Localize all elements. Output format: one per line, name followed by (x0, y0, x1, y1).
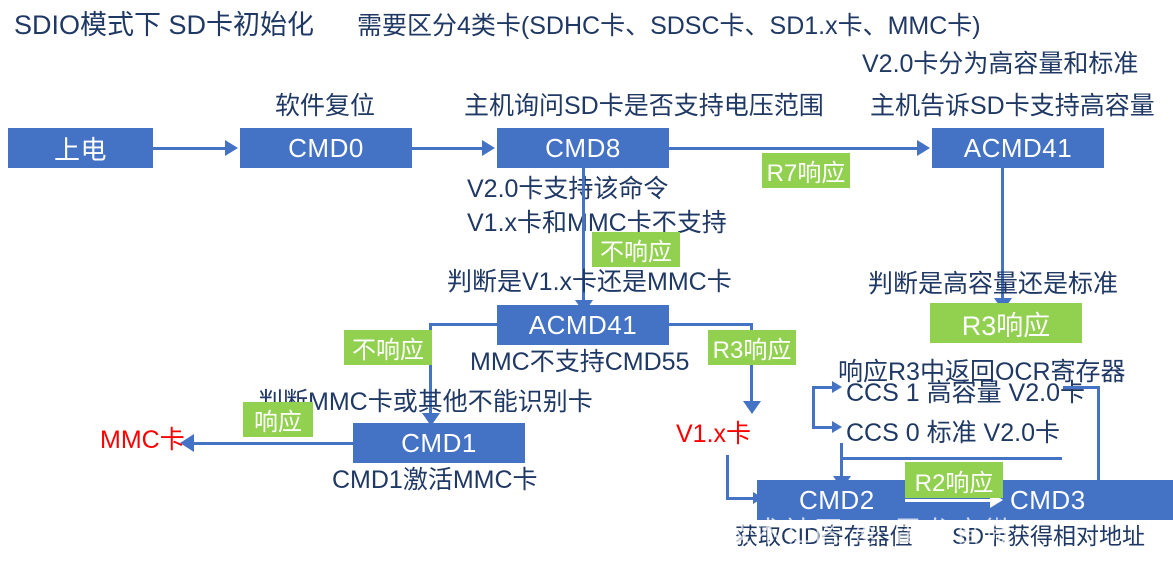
ccs1-label: CCS 1 (846, 379, 927, 407)
ccs0-value: 标准 V2.0卡 (927, 419, 1060, 447)
connector-ccs0-stub (812, 426, 834, 429)
connector-ccs0-to-cmd2-h (840, 457, 1062, 460)
header-note-v2-capacity: V2.0卡分为高容量和标准 (862, 50, 1138, 78)
ccs0-label: CCS 0 (846, 419, 927, 447)
caption-cmd1-below: CMD1激活MMC卡 (332, 466, 538, 494)
caption-branch-right-question: 判断是高容量还是标准 (868, 270, 1118, 298)
tag-response: 响应 (243, 402, 313, 437)
arrowhead-to-cmd8 (482, 140, 495, 156)
arrowhead-ccs0 (832, 421, 842, 433)
caption-cmd0-above: 软件复位 (275, 92, 375, 120)
ccs1-row: CCS 1 高容量 V2.0卡 (846, 379, 1085, 407)
ccs0-row: CCS 0 标准 V2.0卡 (846, 419, 1060, 447)
connector-ccs1-stub (812, 386, 834, 389)
flowchart-canvas: SDIO模式下 SD卡初始化 需要区分4类卡(SDHC卡、SDSC卡、SD1.x… (0, 0, 1173, 561)
connector-poweron-to-cmd0 (153, 147, 225, 150)
arrowhead-to-cmd0 (225, 140, 238, 156)
tag-no-response-acmd41: 不响应 (344, 330, 432, 365)
ccs1-value: 高容量 V2.0卡 (927, 379, 1085, 407)
connector-acmd41-mid-left (429, 323, 499, 326)
node-cmd1[interactable]: CMD1 (353, 423, 525, 463)
connector-v1x-right (726, 497, 756, 500)
arrowhead-to-acmd41-top (917, 140, 930, 156)
tag-r7-response: R7响应 (762, 153, 850, 188)
node-acmd41-top[interactable]: ACMD41 (932, 128, 1104, 168)
connector-ccs1-right (1063, 386, 1100, 389)
connector-acmd41-mid-right (669, 323, 753, 326)
page-title: SDIO模式下 SD卡初始化 (14, 10, 314, 40)
connector-cmd0-to-cmd8 (412, 147, 482, 150)
connector-cmd8-to-acmd41-top (669, 147, 917, 150)
caption-cmd8-below-1: V2.0卡支持该命令 (467, 175, 668, 203)
tag-no-response-cmd8: 不响应 (592, 232, 680, 267)
node-power-on[interactable]: 上电 (8, 128, 153, 168)
node-cmd8[interactable]: CMD8 (497, 128, 669, 168)
tag-r3-response-small: R3响应 (708, 330, 796, 365)
result-mmc-card: MMC卡 (100, 426, 185, 454)
connector-v1x-down (726, 455, 729, 500)
arrowhead-to-v1x (743, 401, 761, 414)
tag-r3-response-big: R3响应 (930, 303, 1082, 343)
tag-r2-response: R2响应 (905, 462, 1003, 498)
caption-cmd8-above: 主机询问SD卡是否支持电压范围 (464, 92, 824, 120)
header-note-card-types: 需要区分4类卡(SDHC卡、SDSC卡、SD1.x卡、MMC卡) (357, 12, 981, 40)
caption-cmd3-below: SD卡获得相对地址 (952, 524, 1145, 550)
connector-cmd1-to-mmc (192, 442, 354, 445)
caption-acmd41-top-above: 主机告诉SD卡支持高容量 (870, 92, 1155, 120)
node-cmd0[interactable]: CMD0 (240, 128, 412, 168)
caption-cmd2-below: 获取CID寄存器值 (735, 524, 913, 550)
result-v1x-card: V1.x卡 (676, 420, 751, 448)
arrowhead-ccs1 (832, 381, 842, 393)
connector-ccs-bracket (812, 386, 815, 429)
caption-branch-left-question: 判断是V1.x卡还是MMC卡 (447, 268, 732, 296)
caption-acmd41-mid-below: MMC不支持CMD55 (470, 348, 689, 376)
connector-ccs1-right-down (1097, 386, 1100, 486)
node-acmd41-mid[interactable]: ACMD41 (497, 305, 669, 345)
connector-cmd2-to-cmd3 (905, 499, 993, 502)
